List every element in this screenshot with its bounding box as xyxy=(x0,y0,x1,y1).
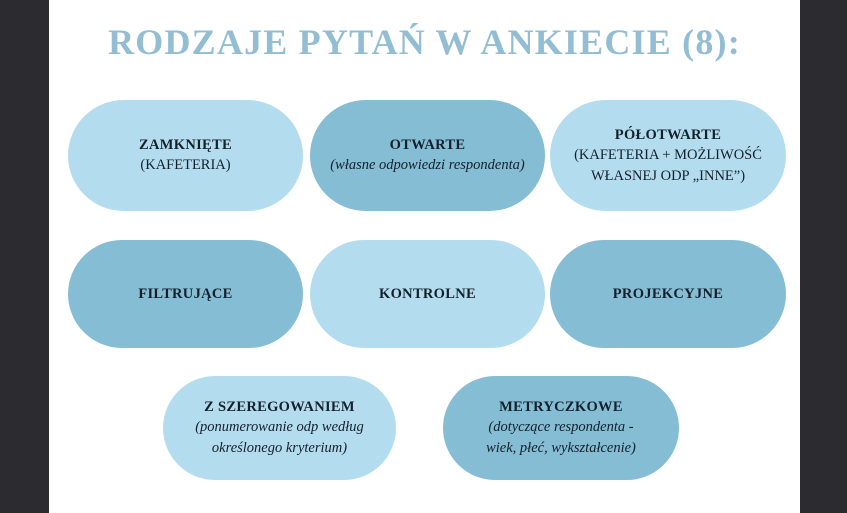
card-title: ZAMKNIĘTE xyxy=(139,135,232,155)
card-title: PROJEKCYJNE xyxy=(613,284,723,304)
card-subtitle-line-1: (dotyczące respondenta - xyxy=(488,417,633,438)
question-type-card-z-szeregowaniem[interactable]: Z SZEREGOWANIEM (ponumerowanie odp wedłu… xyxy=(163,376,396,480)
question-type-card-otwarte[interactable]: OTWARTE (własne odpowiedzi respondenta) xyxy=(310,100,545,211)
question-type-card-filtrujace[interactable]: FILTRUJĄCE xyxy=(68,240,303,348)
card-title: FILTRUJĄCE xyxy=(138,284,232,304)
card-subtitle-line-2: określonego kryterium) xyxy=(212,438,347,459)
card-subtitle-line-2: WŁASNEJ ODP „INNE”) xyxy=(591,166,745,187)
card-subtitle: (własne odpowiedzi respondenta) xyxy=(330,155,524,176)
card-subtitle-line-1: (ponumerowanie odp według xyxy=(195,417,364,438)
question-type-card-kontrolne[interactable]: KONTROLNE xyxy=(310,240,545,348)
card-subtitle-line-1: (KAFETERIA + MOŻLIWOŚĆ xyxy=(574,145,762,166)
card-title: OTWARTE xyxy=(390,135,466,155)
card-subtitle-line-2: wiek, płeć, wykształcenie) xyxy=(486,438,636,459)
left-letterbox-bar xyxy=(0,0,49,513)
card-subtitle: (KAFETERIA) xyxy=(140,155,230,176)
card-title: PÓŁOTWARTE xyxy=(615,125,721,145)
card-title: KONTROLNE xyxy=(379,284,476,304)
question-type-card-zamkniete[interactable]: ZAMKNIĘTE (KAFETERIA) xyxy=(68,100,303,211)
question-type-card-polotwarte[interactable]: PÓŁOTWARTE (KAFETERIA + MOŻLIWOŚĆ WŁASNE… xyxy=(550,100,786,211)
page-title: RODZAJE PYTAŃ W ANKIECIE (8): xyxy=(49,16,800,68)
question-type-card-metryczkowe[interactable]: METRYCZKOWE (dotyczące respondenta - wie… xyxy=(443,376,679,480)
card-title: METRYCZKOWE xyxy=(499,397,623,417)
slide-canvas: RODZAJE PYTAŃ W ANKIECIE (8): ZAMKNIĘTE … xyxy=(0,0,847,513)
question-type-card-projekcyjne[interactable]: PROJEKCYJNE xyxy=(550,240,786,348)
card-title: Z SZEREGOWANIEM xyxy=(204,397,355,417)
right-letterbox-bar xyxy=(800,0,847,513)
slide-content-area: RODZAJE PYTAŃ W ANKIECIE (8): ZAMKNIĘTE … xyxy=(49,0,800,513)
